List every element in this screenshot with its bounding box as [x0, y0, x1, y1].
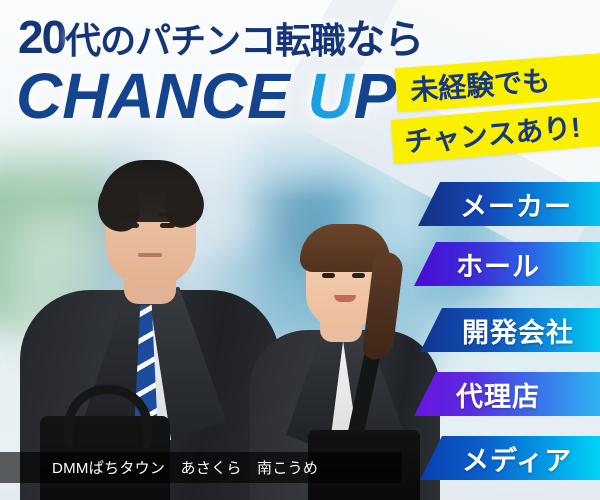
category-label-media: メディア: [462, 439, 572, 478]
category-button-hall[interactable]: ホール: [414, 242, 600, 286]
credit-bar: DMMぱちタウン あさくら 南こうめ: [0, 452, 402, 483]
category-label-agency: 代理店: [456, 375, 540, 414]
category-button-media[interactable]: メディア: [420, 436, 600, 480]
credit-text: DMMぱちタウン あさくら 南こうめ: [52, 457, 318, 478]
category-label-maker: メーカー: [460, 185, 572, 224]
category-button-agency[interactable]: 代理店: [414, 372, 600, 416]
category-label-development-company: 開発会社: [462, 311, 574, 350]
category-button-list: メーカー ホール 開発会社 代理店 メディア: [0, 0, 600, 500]
category-label-hall: ホール: [456, 245, 540, 284]
recruitment-banner: 20代のパチンコ転職なら CHANCE UP 未経験でも チャンスあり! メーカ…: [0, 0, 600, 500]
category-button-development-company[interactable]: 開発会社: [420, 308, 600, 352]
category-button-maker[interactable]: メーカー: [418, 182, 600, 226]
